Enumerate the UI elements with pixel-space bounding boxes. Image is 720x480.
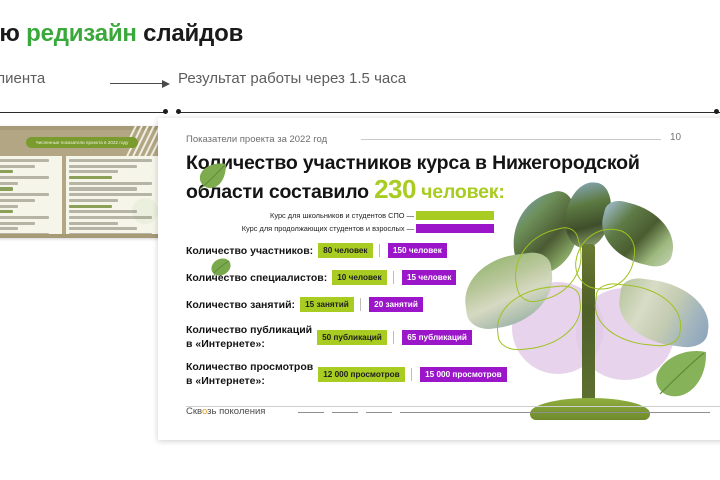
footer-pre: Скв [186, 406, 202, 417]
page-title-accent: редизайн [26, 20, 137, 47]
metric-label-line1: Количество публикаций [186, 323, 312, 337]
metric-separator [393, 331, 394, 344]
metric-row: Количество просмотровв «Интернете»:12 00… [186, 360, 516, 388]
thumbnail-title-pill: Численные показатели проекта в 2022 году [26, 137, 138, 148]
slide-page-number: 10 [670, 132, 681, 143]
metric-label: Количество специалистов: [186, 271, 327, 285]
metrics-list: Количество участников:80 человек150 чело… [186, 242, 516, 397]
before-caption: айд клиента [0, 70, 45, 87]
footer-tagline: Сквозь поколения [186, 406, 265, 417]
metric-label-line1: Количество просмотров [186, 360, 313, 374]
after-caption: Результат работы через 1.5 часа [178, 70, 406, 87]
divider-dot-icon [714, 109, 719, 114]
legend-label: Курс для продолжающих студентов и взросл… [242, 223, 414, 234]
divider-dot-icon [163, 109, 168, 114]
arrow-shaft [110, 83, 164, 84]
legend-swatch-green [416, 211, 494, 220]
footer-post: зь поколения [207, 406, 265, 417]
metric-row: Количество занятий:15 занятий20 занятий [186, 296, 516, 314]
metric-value-purple: 20 занятий [369, 297, 423, 312]
metric-label: Количество участников: [186, 244, 313, 258]
metric-label: Количество занятий: [186, 298, 295, 312]
footer-dash [332, 412, 358, 413]
thumbnail-text-column-left [0, 156, 62, 234]
thumbnail-inner: …_ltr Численные показатели проекта в 202… [0, 130, 166, 234]
before-slide-thumbnail[interactable]: …_ltr Численные показатели проекта в 202… [0, 126, 170, 238]
small-leaf-icon [648, 346, 710, 400]
metric-value-green: 50 публикаций [317, 330, 387, 345]
screenshot-root: елаю редизайн слайдов айд клиента Резуль… [0, 0, 720, 480]
metric-row: Количество специалистов:10 человек15 чел… [186, 269, 516, 287]
metric-separator [411, 368, 412, 381]
page-title-pre: елаю [0, 20, 26, 47]
slide-eyebrow: Показатели проекта за 2022 год [186, 134, 327, 145]
metric-separator [360, 298, 361, 311]
footer-dash [366, 412, 392, 413]
legend-label: Курс для школьников и студентов СПО — [270, 210, 414, 221]
metric-separator [379, 244, 380, 257]
divider-segment-left [0, 112, 166, 113]
thumbnail-text-column-right [66, 156, 166, 234]
metric-value-green: 10 человек [332, 270, 386, 285]
page-title-post: слайдов [137, 20, 243, 47]
small-leaf-icon [196, 162, 230, 192]
metric-value-green: 15 занятий [300, 297, 354, 312]
eyebrow-rule [361, 139, 661, 140]
arrow-head [162, 80, 170, 88]
metric-value-green: 12 000 просмотров [318, 367, 405, 382]
metric-label: Количество публикацийв «Интернете»: [186, 323, 312, 351]
comparison-captions: айд клиента Результат работы через 1.5 ч… [0, 70, 720, 94]
metric-value-purple: 65 публикаций [402, 330, 472, 345]
metric-value-purple: 150 человек [388, 243, 447, 258]
metric-label-line2: в «Интернете»: [186, 375, 265, 387]
legend-item: Курс для продолжающих студентов и взросл… [184, 223, 504, 234]
legend-item: Курс для школьников и студентов СПО — [184, 210, 504, 221]
metric-row: Количество участников:80 человек150 чело… [186, 242, 516, 260]
metric-value-green: 80 человек [318, 243, 372, 258]
metric-value-purple: 15 000 просмотров [420, 367, 507, 382]
metric-row: Количество публикацийв «Интернете»:50 пу… [186, 323, 516, 351]
arrow-right-icon [110, 79, 172, 88]
header-divider [0, 108, 720, 116]
page-title: елаю редизайн слайдов [0, 20, 558, 48]
footer-dash [400, 412, 710, 413]
chart-legend: Курс для школьников и студентов СПО — Ку… [184, 210, 504, 236]
footer-dash [298, 412, 324, 413]
metric-label: Количество просмотровв «Интернете»: [186, 360, 313, 388]
metric-value-purple: 15 человек [402, 270, 456, 285]
slide-footer: Сквозь поколения [186, 406, 710, 418]
metric-separator [393, 271, 394, 284]
divider-segment-right [180, 112, 720, 113]
thumbnail-title-text: Численные показатели проекта в 2022 году [26, 137, 138, 148]
metric-label-line2: в «Интернете»: [186, 338, 265, 350]
headline-number: 230 [374, 174, 416, 204]
after-slide[interactable]: Показатели проекта за 2022 год 10 Количе… [158, 118, 720, 440]
legend-swatch-purple [416, 224, 494, 233]
divider-dot-icon [176, 109, 181, 114]
